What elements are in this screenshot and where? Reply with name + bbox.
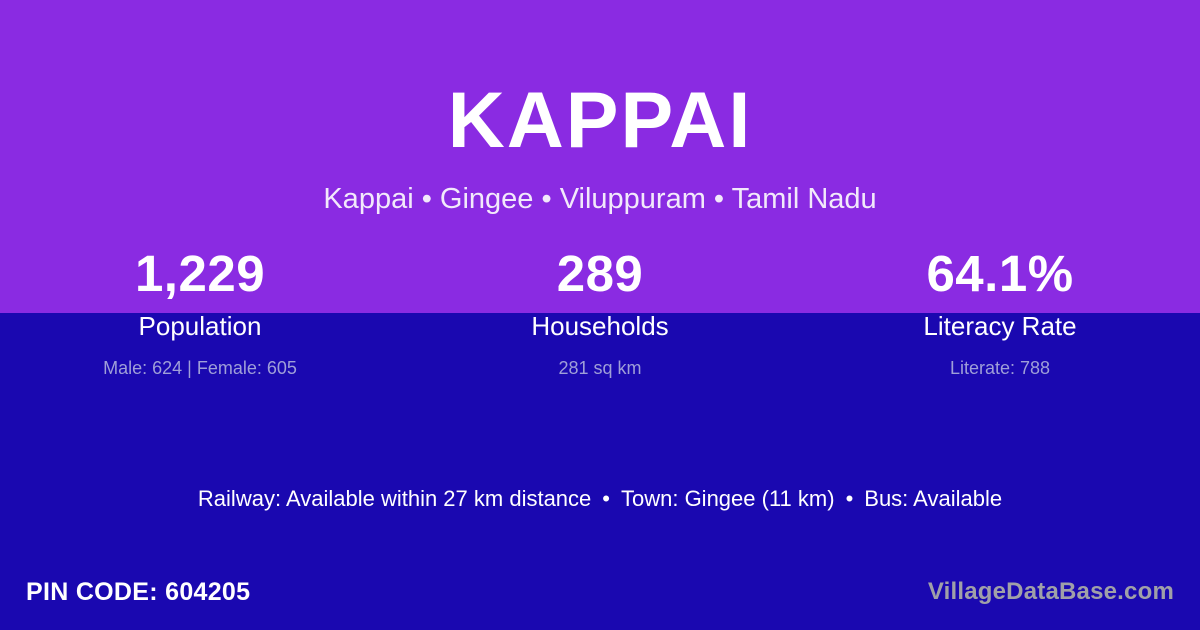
bullet-separator-icon: • (835, 485, 865, 514)
village-info-card: KAPPAI Kappai • Gingee • Viluppuram • Ta… (0, 0, 1200, 630)
stats-row: 1,229 Population Male: 624 | Female: 605… (0, 245, 1200, 381)
breadcrumb: Kappai • Gingee • Viluppuram • Tamil Nad… (0, 181, 1200, 219)
stat-population: 1,229 Population Male: 624 | Female: 605 (0, 245, 400, 381)
town-info: Town: Gingee (11 km) (621, 486, 835, 511)
footer: PIN CODE: 604205 VillageDataBase.com (0, 572, 1200, 612)
bullet-separator-icon: • (591, 485, 621, 514)
stat-label: Literacy Rate (800, 309, 1200, 344)
stat-households: 289 Households 281 sq km (400, 245, 800, 381)
stat-value: 64.1% (800, 245, 1200, 304)
stat-value: 289 (400, 245, 800, 304)
brand-watermark: VillageDataBase.com (928, 578, 1174, 606)
pin-code: PIN CODE: 604205 (26, 578, 250, 607)
transit-info-line: Railway: Available within 27 km distance… (0, 485, 1200, 514)
stat-label: Population (0, 309, 400, 344)
stat-literacy-rate: 64.1% Literacy Rate Literate: 788 (800, 245, 1200, 381)
stat-label: Households (400, 309, 800, 344)
page-title: KAPPAI (0, 80, 1200, 159)
railway-info: Railway: Available within 27 km distance (198, 486, 591, 511)
stat-subtext: Male: 624 | Female: 605 (0, 356, 400, 381)
bus-info: Bus: Available (864, 486, 1002, 511)
stat-value: 1,229 (0, 245, 400, 304)
stat-subtext: 281 sq km (400, 356, 800, 381)
stat-subtext: Literate: 788 (800, 356, 1200, 381)
